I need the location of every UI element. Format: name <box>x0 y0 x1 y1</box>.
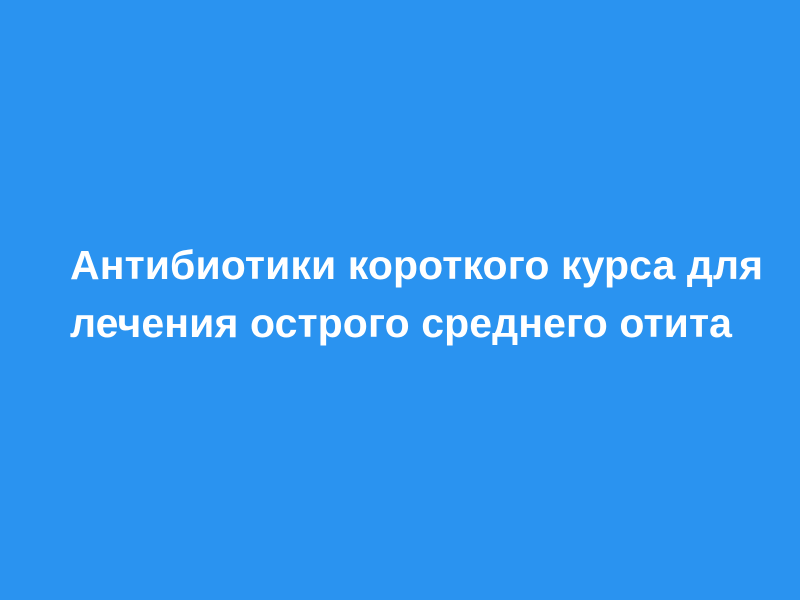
title-card: Антибиотики короткого курса для лечения … <box>0 0 800 600</box>
page-title: Антибиотики короткого курса для лечения … <box>70 236 730 352</box>
title-line-2: лечения острого среднего отита <box>70 294 730 352</box>
title-line-1: Антибиотики короткого курса для <box>70 236 730 294</box>
